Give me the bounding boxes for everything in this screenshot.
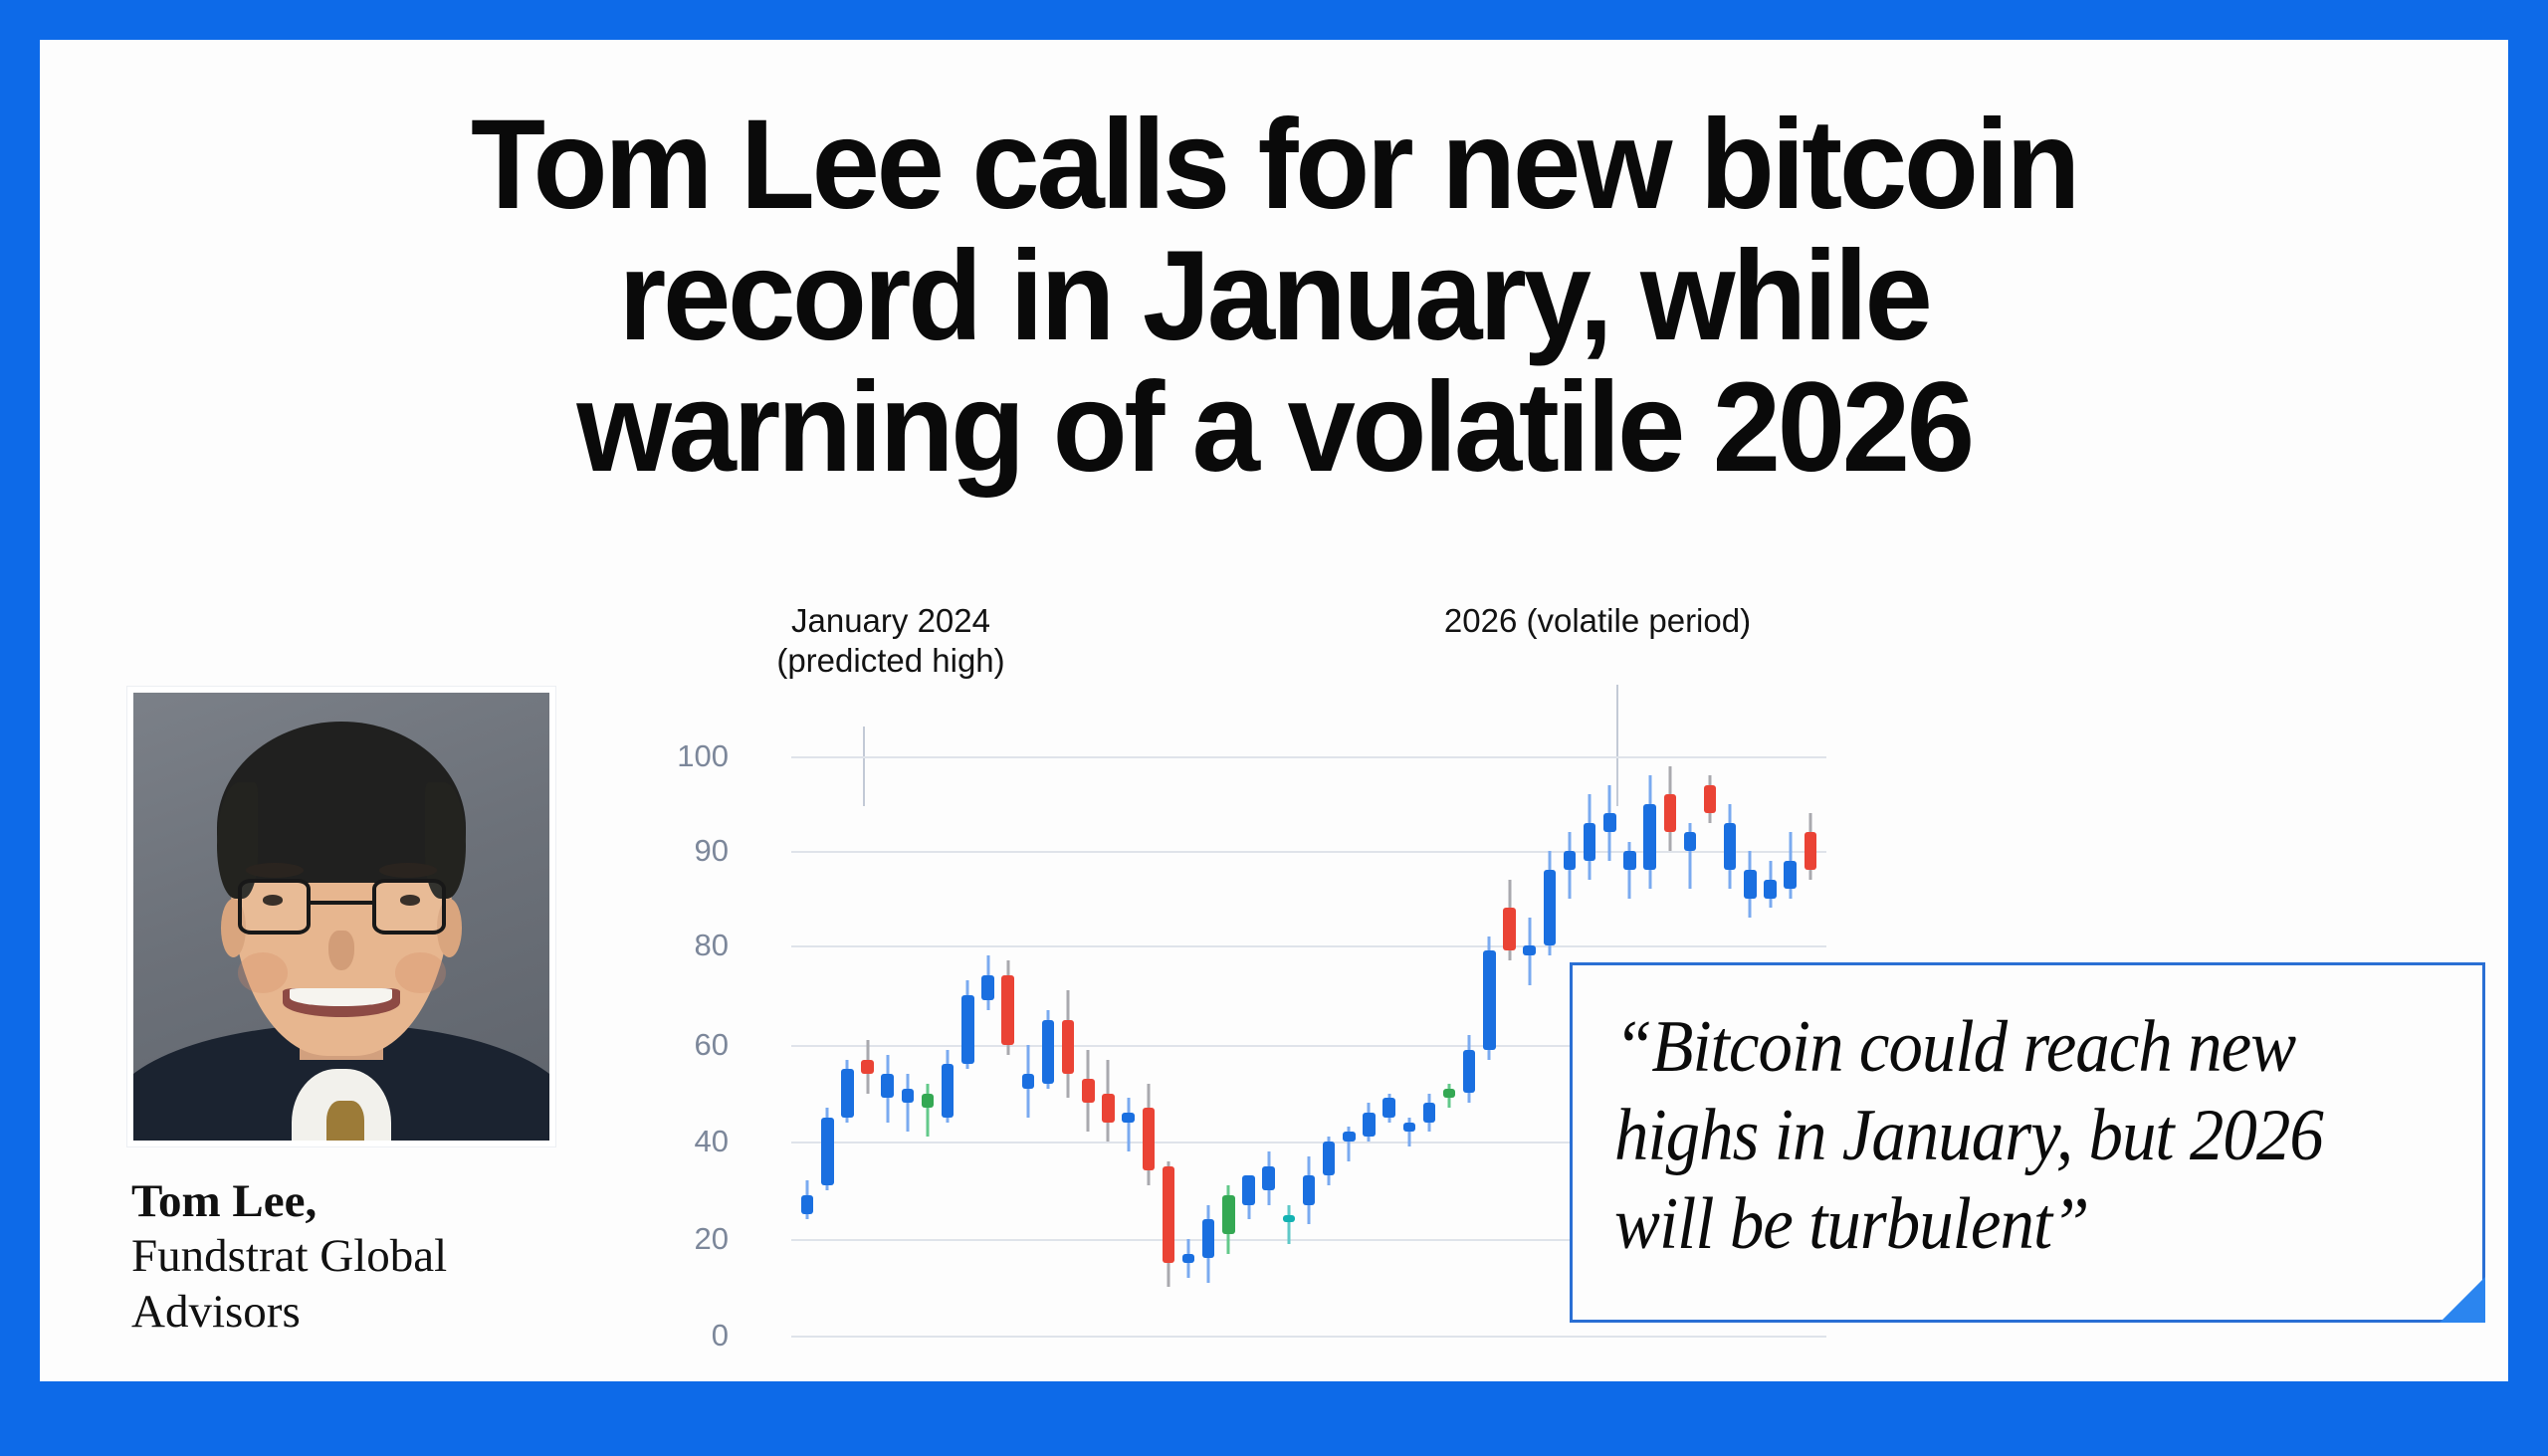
candle-body bbox=[1805, 832, 1816, 870]
gridline-80 bbox=[791, 945, 1826, 947]
gridline-100 bbox=[791, 756, 1826, 758]
candle-body bbox=[1523, 945, 1535, 955]
caption-affiliation-1: Fundstrat Global bbox=[131, 1229, 599, 1284]
headline-line-3: warning of a volatile 2026 bbox=[204, 362, 2344, 494]
candle-body bbox=[981, 975, 993, 1000]
candle-wick bbox=[1287, 1205, 1290, 1244]
portrait-tie bbox=[326, 1101, 364, 1142]
candle-body bbox=[1143, 1108, 1155, 1170]
candle-body bbox=[821, 1118, 833, 1185]
caption-affiliation-2: Advisors bbox=[131, 1285, 599, 1340]
candle-body bbox=[1784, 861, 1796, 890]
candle-body bbox=[1664, 794, 1676, 832]
candle-body bbox=[1082, 1079, 1094, 1103]
portrait-cheek-left bbox=[238, 952, 288, 993]
candle-body bbox=[1062, 1020, 1074, 1074]
annotation-leader-line-2 bbox=[1616, 685, 1618, 806]
candle-body bbox=[1724, 823, 1736, 871]
candle-body bbox=[1564, 851, 1576, 870]
candle-body bbox=[1283, 1215, 1295, 1222]
candle-body bbox=[961, 995, 973, 1064]
candle-body bbox=[1704, 785, 1716, 814]
candle-body bbox=[1242, 1175, 1254, 1204]
outer-blue-frame: Tom Lee calls for new bitcoin record in … bbox=[0, 0, 2548, 1456]
candle-body bbox=[1684, 832, 1696, 851]
candle-body bbox=[1463, 1050, 1475, 1094]
y-axis-tick-90: 90 bbox=[639, 833, 729, 869]
y-axis-tick-100: 100 bbox=[639, 738, 729, 774]
candle-body bbox=[1262, 1166, 1274, 1191]
candle-body bbox=[881, 1074, 893, 1098]
portrait-teeth bbox=[290, 988, 392, 1006]
candle-body bbox=[1042, 1020, 1054, 1084]
annotation-leader-line-1 bbox=[863, 727, 865, 806]
candle-body bbox=[1343, 1132, 1355, 1142]
candle-body bbox=[942, 1064, 954, 1117]
candle-wick bbox=[906, 1074, 909, 1132]
candle-body bbox=[1623, 851, 1635, 870]
chart-annotation-january-2024: January 2024 (predicted high) bbox=[732, 601, 1050, 682]
candle-body bbox=[1363, 1113, 1375, 1137]
candle-body bbox=[1643, 804, 1655, 871]
candle-body bbox=[1323, 1142, 1335, 1175]
candle-body bbox=[841, 1069, 853, 1118]
candle-body bbox=[1202, 1219, 1214, 1258]
candle-body bbox=[1182, 1254, 1194, 1264]
headline-line-2: record in January, while bbox=[204, 231, 2344, 362]
glasses-right-lens bbox=[372, 879, 445, 935]
candle-wick bbox=[1127, 1098, 1130, 1150]
white-card: Tom Lee calls for new bitcoin record in … bbox=[40, 40, 2508, 1381]
caption-name: Tom Lee, bbox=[131, 1174, 599, 1229]
candle-body bbox=[1163, 1166, 1174, 1264]
portrait-cheek-right bbox=[395, 952, 445, 993]
candle-body bbox=[1022, 1074, 1034, 1089]
portrait-nose bbox=[328, 931, 353, 971]
candle-body bbox=[1423, 1103, 1435, 1122]
candle-body bbox=[1483, 950, 1495, 1050]
candle-wick bbox=[927, 1084, 930, 1137]
candle-body bbox=[1382, 1098, 1394, 1117]
page-title: Tom Lee calls for new bitcoin record in … bbox=[204, 100, 2344, 493]
y-axis-tick-80: 80 bbox=[639, 928, 729, 963]
pull-quote-text: “Bitcoin could reach new highs in Januar… bbox=[1614, 1003, 2397, 1268]
portrait-mouth bbox=[283, 988, 399, 1017]
candle-body bbox=[1744, 870, 1756, 899]
candle-body bbox=[1122, 1113, 1134, 1123]
candle-body bbox=[1544, 870, 1556, 945]
candle-body bbox=[1303, 1175, 1315, 1204]
y-axis-tick-60: 60 bbox=[639, 1027, 729, 1063]
candle-body bbox=[1503, 908, 1515, 950]
candle-body bbox=[1443, 1089, 1455, 1099]
gridline-0 bbox=[791, 1336, 1826, 1338]
avatar bbox=[133, 693, 549, 1141]
folded-corner-icon bbox=[2440, 1277, 2485, 1323]
candle-body bbox=[1603, 813, 1615, 832]
chart-annotation-2026-volatile: 2026 (volatile period) bbox=[1364, 601, 1831, 641]
candle-body bbox=[1102, 1094, 1114, 1123]
candle-body bbox=[1764, 880, 1776, 899]
candle-body bbox=[1584, 823, 1595, 861]
candle-body bbox=[922, 1094, 934, 1109]
candle-body bbox=[1222, 1195, 1234, 1234]
portrait-caption: Tom Lee, Fundstrat Global Advisors bbox=[131, 1174, 599, 1340]
y-axis-tick-20: 20 bbox=[639, 1221, 729, 1257]
y-axis-tick-40: 40 bbox=[639, 1124, 729, 1159]
candle-body bbox=[902, 1089, 914, 1104]
glasses-icon bbox=[238, 879, 311, 935]
gridline-90 bbox=[791, 851, 1826, 853]
candle-body bbox=[1001, 975, 1013, 1045]
pull-quote-box: “Bitcoin could reach new highs in Januar… bbox=[1570, 962, 2485, 1323]
candle-body bbox=[861, 1060, 873, 1075]
candle-body bbox=[801, 1195, 813, 1215]
candle-body bbox=[1403, 1123, 1415, 1133]
portrait-frame bbox=[127, 687, 555, 1146]
headline-line-1: Tom Lee calls for new bitcoin bbox=[204, 100, 2344, 231]
y-axis-tick-0: 0 bbox=[639, 1318, 729, 1353]
glasses-bridge bbox=[311, 901, 373, 905]
